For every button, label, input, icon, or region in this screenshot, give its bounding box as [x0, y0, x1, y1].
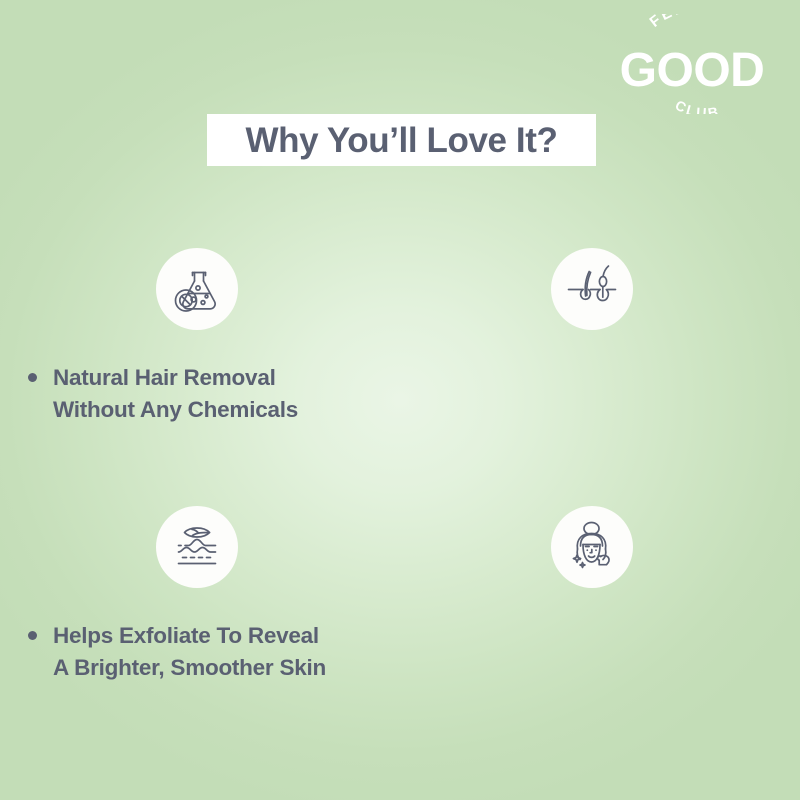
leaf-exfoliate-skin-icon: [156, 506, 238, 588]
feature-text-row: Natural Hair Removal Without Any Chemica…: [28, 362, 298, 426]
hair-follicle-icon: [551, 248, 633, 330]
face-makeup-glow-icon: [551, 506, 633, 588]
title-banner: Why You’ll Love It?: [207, 114, 596, 166]
promo-poster: FEEL GOOD CLUB Why You’ll Love It?: [0, 0, 800, 800]
bullet-point: [28, 373, 37, 382]
feature-label: Natural Hair Removal Without Any Chemica…: [53, 362, 298, 426]
feature-text-row: Helps Exfoliate To Reveal A Brighter, Sm…: [28, 620, 326, 684]
svg-text:GOOD: GOOD: [620, 44, 765, 97]
svg-text:FEEL: FEEL: [647, 14, 700, 31]
flask-no-chemicals-icon: [156, 248, 238, 330]
feel-good-club-logo: FEEL GOOD CLUB: [608, 14, 778, 114]
feature-label: Helps Exfoliate To Reveal A Brighter, Sm…: [53, 620, 326, 684]
bullet-point: [28, 631, 37, 640]
svg-text:CLUB: CLUB: [673, 97, 722, 114]
page-title: Why You’ll Love It?: [246, 123, 558, 158]
